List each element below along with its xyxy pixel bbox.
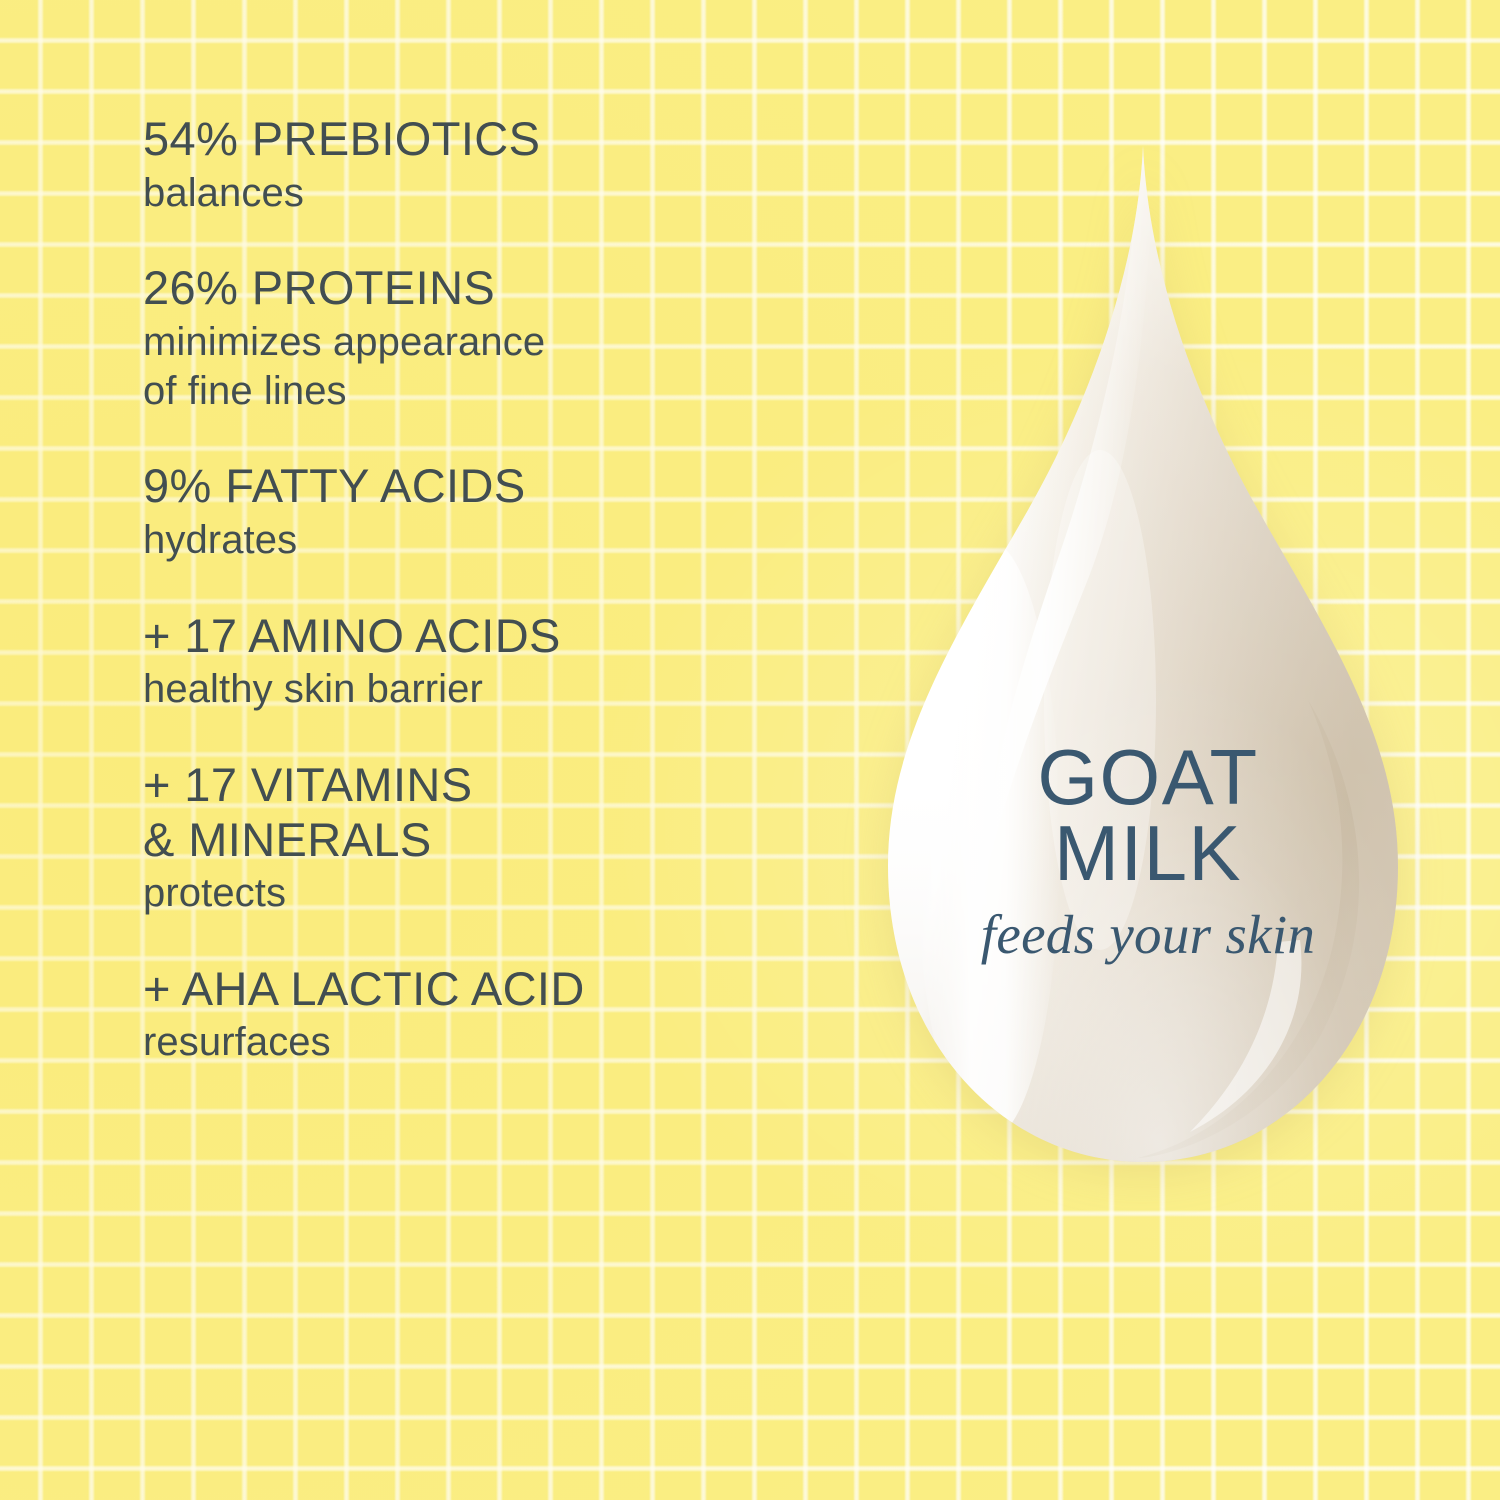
product-ingredient-infographic: 54% PREBIOTICS balances 26% PROTEINS min…	[0, 0, 1500, 1500]
ingredient-item-aha-lactic-acid: + AHA LACTIC ACID resurfaces	[143, 962, 843, 1067]
ingredient-benefit: healthy skin barrier	[143, 665, 843, 714]
ingredient-headline: + 17 VITAMINS & MINERALS	[143, 758, 843, 867]
ingredient-item-amino-acids: + 17 AMINO ACIDS healthy skin barrier	[143, 609, 843, 714]
ingredient-item-prebiotics: 54% PREBIOTICS balances	[143, 112, 843, 217]
ingredient-headline: 9% FATTY ACIDS	[143, 459, 843, 514]
ingredient-list: 54% PREBIOTICS balances 26% PROTEINS min…	[143, 112, 843, 1067]
ingredient-benefit: resurfaces	[143, 1018, 843, 1067]
ingredient-item-fatty-acids: 9% FATTY ACIDS hydrates	[143, 459, 843, 564]
milk-droplet-graphic: GOAT MILK feeds your skin	[838, 140, 1458, 1210]
ingredient-headline: 54% PREBIOTICS	[143, 112, 843, 167]
ingredient-headline: + AHA LACTIC ACID	[143, 962, 843, 1017]
ingredient-item-vitamins-minerals: + 17 VITAMINS & MINERALS protects	[143, 758, 843, 918]
ingredient-benefit: protects	[143, 869, 843, 918]
ingredient-headline: 26% PROTEINS	[143, 261, 843, 316]
ingredient-item-proteins: 26% PROTEINS minimizes appearance of fin…	[143, 261, 843, 415]
ingredient-benefit: hydrates	[143, 516, 843, 565]
ingredient-benefit: minimizes appearance of fine lines	[143, 318, 843, 416]
milk-droplet-icon	[838, 140, 1458, 1210]
ingredient-benefit: balances	[143, 169, 843, 218]
ingredient-headline: + 17 AMINO ACIDS	[143, 609, 843, 664]
